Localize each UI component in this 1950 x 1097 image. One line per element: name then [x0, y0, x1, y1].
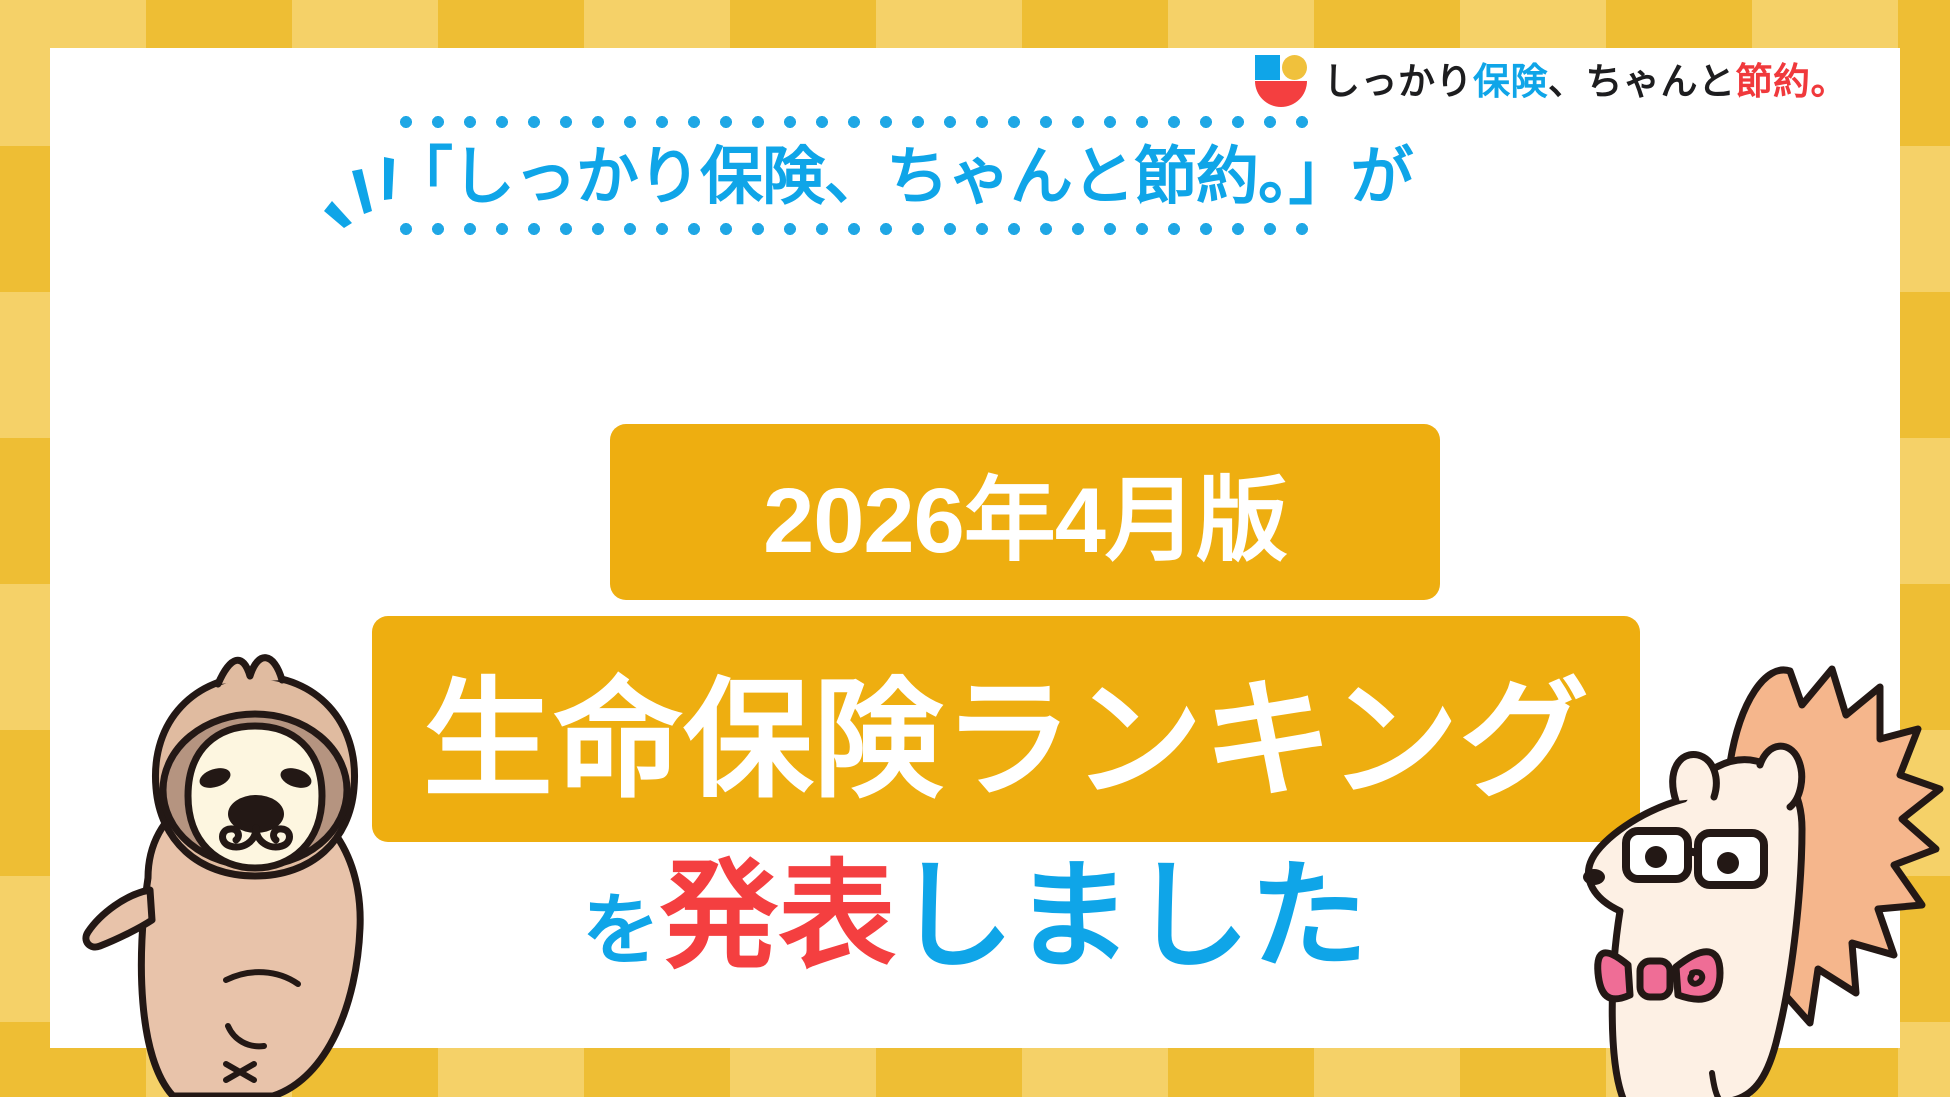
dotted-rail-top	[390, 116, 1320, 128]
sloth-mascot	[78, 628, 418, 1097]
logo-text-part-3: 、ちゃんと	[1548, 61, 1736, 102]
logo-red-semicircle-icon	[1255, 81, 1307, 107]
hedgehog-mascot	[1580, 643, 1950, 1097]
announcement-segment-shimashita: しました	[896, 851, 1368, 983]
poster-canvas: しっかり保険、ちゃんと節約。 「しっかり保険、ちゃんと節約。」が 2026年4月…	[0, 0, 1950, 1097]
announcement-segment-happyou: 発表	[660, 851, 896, 983]
logo-text-part-1: しっかり	[1323, 61, 1473, 102]
ranking-title-label: 生命保険ランキング	[423, 635, 1589, 823]
logo-text-part-4: 節約。	[1736, 61, 1849, 102]
headline-text: 「しっかり保険、ちゃんと節約。」が	[390, 138, 1320, 217]
white-card: しっかり保険、ちゃんと節約。 「しっかり保険、ちゃんと節約。」が 2026年4月…	[50, 48, 1900, 1048]
announcement-segment-wo: を	[582, 886, 660, 974]
version-badge: 2026年4月版	[610, 424, 1440, 600]
dotted-rail-bottom	[390, 223, 1320, 235]
headline-block: 「しっかり保険、ちゃんと節約。」が	[390, 116, 1320, 235]
logo-blue-square-icon	[1255, 55, 1280, 80]
logo-yellow-circle-icon	[1282, 55, 1307, 80]
ranking-title-badge: 生命保険ランキング	[372, 616, 1640, 842]
brand-logo-lockup: しっかり保険、ちゃんと節約。	[1255, 55, 1848, 107]
logo-text-part-2: 保険	[1473, 61, 1548, 102]
brand-logo-text: しっかり保険、ちゃんと節約。	[1323, 63, 1848, 100]
brand-logo-mark-icon	[1255, 55, 1307, 107]
version-badge-label: 2026年4月版	[763, 446, 1287, 579]
